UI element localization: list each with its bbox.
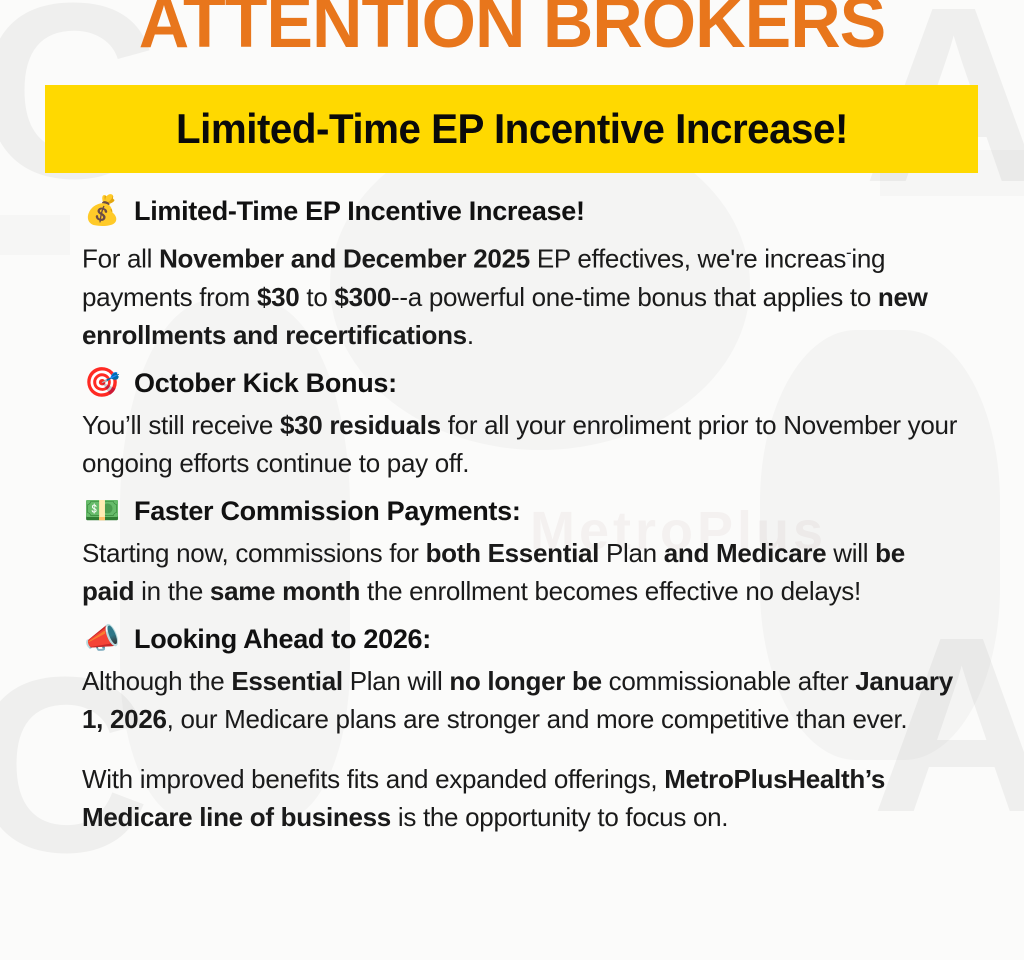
section-title: Faster Commission Payments: (134, 496, 521, 527)
section-title: Looking Ahead to 2026: (134, 624, 431, 655)
body-text: You’ll still receive (82, 410, 280, 440)
section-heading: 💰Limited-Time EP Incentive Increase! (82, 196, 962, 227)
section-body: Although the Essential Plan will no long… (82, 662, 962, 738)
body-text: For all (82, 244, 159, 274)
body-text: the enrollment becomes effective no dela… (360, 576, 861, 606)
body-text: is the opportunity to focus on. (391, 802, 728, 832)
section-title: October Kick Bonus: (134, 368, 397, 399)
banner-title: Limited-Time EP Incentive Increase! (176, 105, 848, 153)
section-body: Starting now, commissions for both Essen… (82, 534, 962, 610)
section-heading: 💵Faster Commission Payments: (82, 496, 962, 527)
body-text: commissionable after (602, 666, 856, 696)
content-section: 📣Looking Ahead to 2026:Although the Esse… (82, 624, 962, 738)
money-bag-icon: 💰 (82, 197, 134, 226)
content-section: 💵Faster Commission Payments:Starting now… (82, 496, 962, 610)
dollar-banknote-icon: 💵 (82, 497, 134, 526)
body-text: With improved benefits fits and expanded… (82, 764, 664, 794)
section-heading: 🎯October Kick Bonus: (82, 368, 962, 399)
emphasis-text: $30 residuals (280, 410, 441, 440)
closing-paragraph: With improved benefits fits and expanded… (82, 760, 962, 836)
emphasis-text: November and December 2025 (159, 244, 530, 274)
body-text: . (467, 320, 474, 350)
section-heading: 📣Looking Ahead to 2026: (82, 624, 962, 655)
section-body: For all November and December 2025 EP ef… (82, 234, 962, 354)
body-text: Plan will (343, 666, 450, 696)
emphasis-text: $30 (257, 282, 299, 312)
content-section: 💰Limited-Time EP Incentive Increase!For … (82, 196, 962, 354)
emphasis-text: both Essential (426, 538, 600, 568)
sections-list: 💰Limited-Time EP Incentive Increase!For … (82, 196, 962, 738)
flyer-page: ATTENTION BROKERS Limited-Time EP Incent… (0, 0, 1024, 960)
section-title: Limited-Time EP Incentive Increase! (134, 196, 585, 227)
content-section: 🎯October Kick Bonus:You’ll still receive… (82, 368, 962, 482)
body-text: in the (134, 576, 210, 606)
body-text: Starting now, commissions for (82, 538, 426, 568)
body-text: Although the (82, 666, 231, 696)
body-text: to (299, 282, 334, 312)
dart-target-icon: 🎯 (82, 369, 134, 398)
body-text: , our Medicare plans are stronger and mo… (167, 704, 908, 734)
emphasis-text: $300 (334, 282, 391, 312)
emphasis-text: Essential (231, 666, 342, 696)
body-content: 💰Limited-Time EP Incentive Increase!For … (82, 196, 962, 836)
section-body: You’ll still receive $30 residuals for a… (82, 406, 962, 482)
page-headline: ATTENTION BROKERS (15, 0, 1008, 64)
body-text: will (826, 538, 875, 568)
body-text: Plan (599, 538, 664, 568)
emphasis-text: no longer be (449, 666, 601, 696)
body-text: --a powerful one-time bonus that applies… (391, 282, 878, 312)
emphasis-text: same month (210, 576, 360, 606)
megaphone-icon: 📣 (82, 625, 134, 654)
body-text: EP effectives, we're increas (530, 244, 846, 274)
highlight-banner: Limited-Time EP Incentive Increase! (45, 85, 978, 173)
emphasis-text: and Medicare (664, 538, 827, 568)
